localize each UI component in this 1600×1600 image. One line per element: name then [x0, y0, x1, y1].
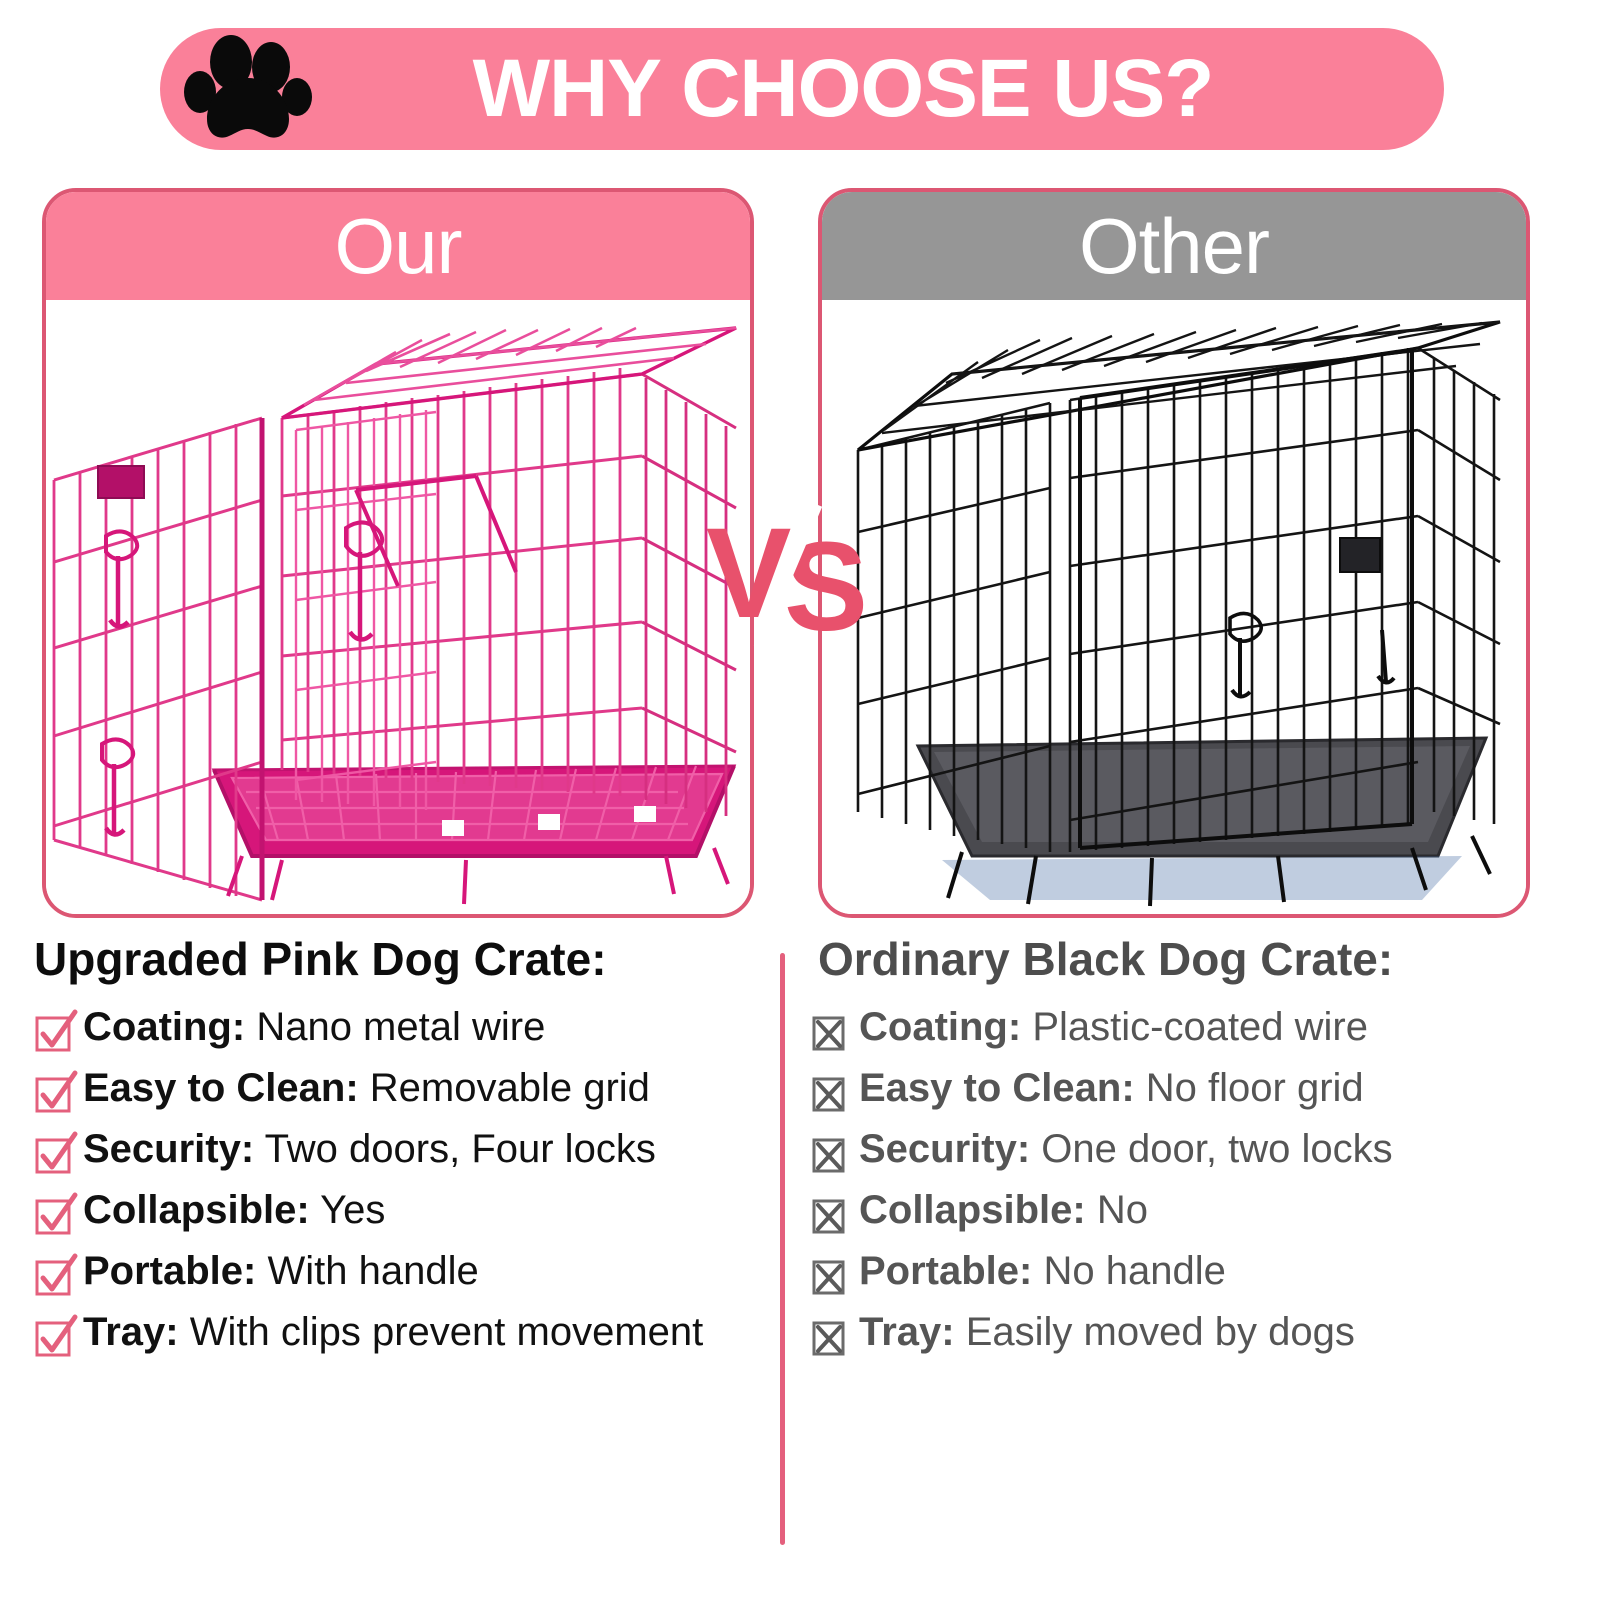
- our-feature-column: Upgraded Pink Dog Crate: Coating: Nano m…: [34, 935, 772, 1371]
- list-item-text: Security: One door, two locks: [859, 1127, 1393, 1172]
- other-card-body: [822, 300, 1526, 918]
- list-item-text: Portable: No handle: [859, 1249, 1226, 1294]
- cross-icon: [810, 1073, 850, 1113]
- list-item: Security: One door, two locks: [810, 1127, 1580, 1174]
- other-column-title: Ordinary Black Dog Crate:: [810, 935, 1580, 983]
- list-item-text: Security: Two doors, Four locks: [83, 1127, 656, 1172]
- black-wire-dog-crate-image: [822, 300, 1526, 918]
- our-column-title: Upgraded Pink Dog Crate:: [34, 935, 772, 983]
- our-card-label: Our: [46, 192, 750, 300]
- feature-key: Tray:: [859, 1310, 955, 1354]
- our-product-card: Our: [42, 188, 754, 918]
- feature-key: Security:: [859, 1127, 1030, 1171]
- list-item: Coating: Nano metal wire: [34, 1005, 772, 1052]
- feature-value: With handle: [267, 1249, 478, 1293]
- cross-icon: [810, 1317, 850, 1357]
- cross-icon: [810, 1134, 850, 1174]
- feature-value: Removable grid: [370, 1066, 650, 1110]
- svg-text:S: S: [784, 516, 868, 655]
- checkmark-icon: [34, 1256, 74, 1296]
- title-banner: WHY CHOOSE US?: [160, 28, 1444, 150]
- list-item-text: Collapsible: Yes: [83, 1188, 385, 1233]
- feature-value: No floor grid: [1146, 1066, 1364, 1110]
- checkmark-icon: [34, 1195, 74, 1235]
- feature-key: Portable:: [859, 1249, 1032, 1293]
- feature-value: One door, two locks: [1041, 1127, 1392, 1171]
- infographic-page: WHY CHOOSE US? Our: [0, 0, 1600, 1600]
- feature-value: Nano metal wire: [256, 1005, 545, 1049]
- other-product-card: Other: [818, 188, 1530, 918]
- cross-icon: [810, 1012, 850, 1052]
- checkmark-icon: [34, 1317, 74, 1357]
- list-item: Tray: With clips prevent movement: [34, 1310, 772, 1357]
- our-card-body: [46, 300, 750, 918]
- feature-key: Tray:: [83, 1310, 179, 1354]
- feature-value: Two doors, Four locks: [265, 1127, 656, 1171]
- list-item: Portable: No handle: [810, 1249, 1580, 1296]
- versus-badge: V S: [700, 495, 880, 655]
- list-item-text: Collapsible: No: [859, 1188, 1148, 1233]
- feature-key: Portable:: [83, 1249, 256, 1293]
- list-item-text: Easy to Clean: Removable grid: [83, 1066, 650, 1111]
- checkmark-icon: [34, 1073, 74, 1113]
- list-item: Security: Two doors, Four locks: [34, 1127, 772, 1174]
- feature-key: Coating:: [859, 1005, 1021, 1049]
- feature-key: Collapsible:: [83, 1188, 310, 1232]
- list-item-text: Coating: Nano metal wire: [83, 1005, 545, 1050]
- list-item: Collapsible: Yes: [34, 1188, 772, 1235]
- paw-print-icon: [184, 34, 312, 144]
- feature-key: Coating:: [83, 1005, 245, 1049]
- list-item: Coating: Plastic-coated wire: [810, 1005, 1580, 1052]
- other-feature-column: Ordinary Black Dog Crate: Coating: Plast…: [810, 935, 1580, 1371]
- list-item-text: Portable: With handle: [83, 1249, 479, 1294]
- cross-icon: [810, 1256, 850, 1296]
- feature-key: Collapsible:: [859, 1188, 1086, 1232]
- list-item: Easy to Clean: Removable grid: [34, 1066, 772, 1113]
- checkmark-icon: [34, 1012, 74, 1052]
- list-item-text: Coating: Plastic-coated wire: [859, 1005, 1368, 1050]
- feature-key: Easy to Clean:: [83, 1066, 359, 1110]
- feature-value: No handle: [1043, 1249, 1225, 1293]
- list-item: Portable: With handle: [34, 1249, 772, 1296]
- other-card-label: Other: [822, 192, 1526, 300]
- feature-value: Yes: [320, 1188, 385, 1232]
- column-divider: [780, 953, 785, 1545]
- pink-wire-dog-crate-image: [46, 300, 750, 918]
- feature-value: Easily moved by dogs: [966, 1310, 1355, 1354]
- feature-value: Plastic-coated wire: [1032, 1005, 1368, 1049]
- list-item: Easy to Clean: No floor grid: [810, 1066, 1580, 1113]
- list-item: Collapsible: No: [810, 1188, 1580, 1235]
- comparison-section: Upgraded Pink Dog Crate: Coating: Nano m…: [0, 935, 1600, 1575]
- list-item: Tray: Easily moved by dogs: [810, 1310, 1580, 1357]
- svg-text:V: V: [706, 502, 791, 645]
- feature-key: Easy to Clean:: [859, 1066, 1135, 1110]
- feature-key: Security:: [83, 1127, 254, 1171]
- cross-icon: [810, 1195, 850, 1235]
- feature-value: No: [1097, 1188, 1148, 1232]
- page-title: WHY CHOOSE US?: [312, 48, 1444, 130]
- feature-value: With clips prevent movement: [190, 1310, 704, 1354]
- list-item-text: Tray: Easily moved by dogs: [859, 1310, 1355, 1355]
- checkmark-icon: [34, 1134, 74, 1174]
- list-item-text: Tray: With clips prevent movement: [83, 1310, 703, 1355]
- list-item-text: Easy to Clean: No floor grid: [859, 1066, 1364, 1111]
